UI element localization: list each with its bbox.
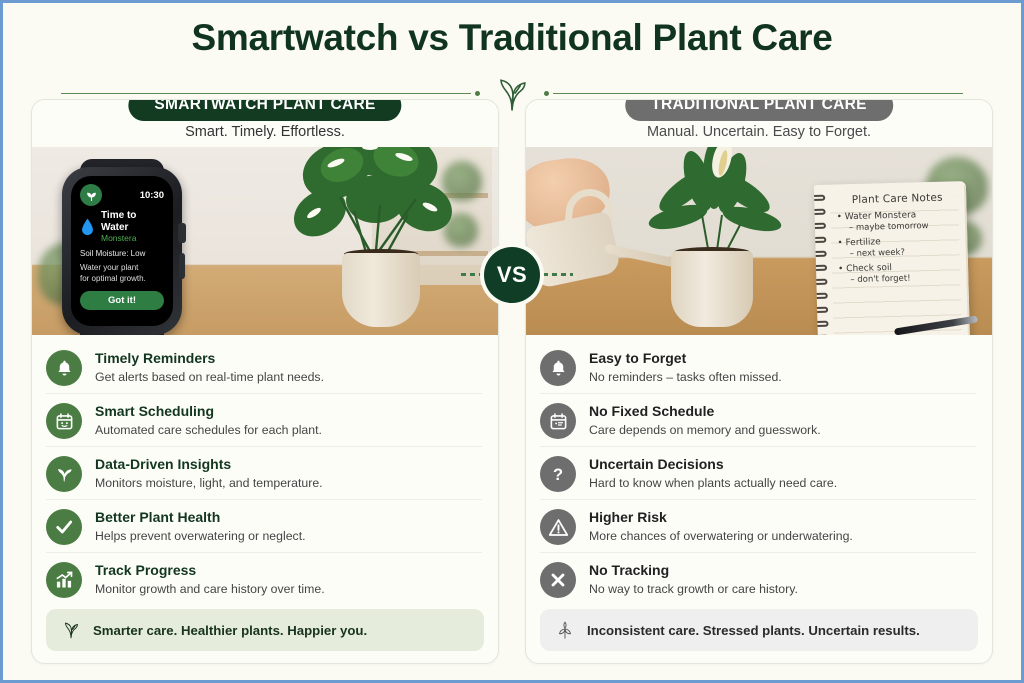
feature-title: Smart Scheduling [95,403,322,421]
calendar-glyph [549,412,568,431]
traditional-badge: TRADITIONAL PLANT CARE [625,99,893,121]
question-glyph: ? [547,463,569,485]
smartwatch-badge: SMARTWATCH PLANT CARE [128,99,401,121]
infographic-viewport: Smartwatch vs Traditional Plant Care VS … [0,0,1024,683]
feature-desc: Monitors moisture, light, and temperatur… [95,476,323,492]
feature-desc: Monitor growth and care history over tim… [95,582,325,598]
smartwatch-panel: SMARTWATCH PLANT CARE Smart. Timely. Eff… [31,99,499,664]
feature-text: Timely Reminders Get alerts based on rea… [95,349,324,385]
chart-up-glyph [54,570,74,590]
notebook-item-sub: – maybe tomorrow [849,220,959,233]
leaf-sprout-icon [60,619,82,641]
watch-status-row: 10:30 [80,184,164,206]
check-icon [46,509,82,545]
divider-dot-right [544,91,549,96]
feature-text: Higher Risk More chances of overwatering… [589,508,853,544]
feature-title: No Fixed Schedule [589,403,821,421]
feature-title: Better Plant Health [95,509,306,527]
watch-body-line-2: for optimal growth. [80,274,164,284]
watch-crown[interactable] [178,223,186,243]
watch-app-leaf-icon [80,184,102,206]
x-icon [540,562,576,598]
svg-text:?: ? [553,466,563,484]
feature-row: Higher Risk More chances of overwatering… [540,499,976,552]
feature-desc: Hard to know when plants actually need c… [589,476,837,492]
plant-pot-left [342,253,420,327]
traditional-photo: Plant Care Notes • Water Monstera – mayb… [526,147,992,335]
vs-badge: VS [484,247,540,303]
leaf-icon [46,456,82,492]
feature-row: Better Plant Health Helps prevent overwa… [46,499,482,552]
feature-text: No Fixed Schedule Care depends on memory… [589,402,821,438]
watch-screen[interactable]: 10:30 Time to Water Monstera Soil Moistu [71,176,173,326]
leaf-glyph [54,464,74,484]
watch-got-it-button[interactable]: Got it! [80,291,164,310]
smartwatch-feature-list: Timely Reminders Get alerts based on rea… [32,335,498,605]
feature-row: Easy to Forget No reminders – tasks ofte… [540,341,976,393]
question-icon: ? [540,456,576,492]
chart-up-icon [46,562,82,598]
calendar-glyph [55,412,74,431]
watch-notification-text: Time to Water Monstera [101,210,164,243]
feature-text: No Tracking No way to track growth or ca… [589,561,798,597]
traditional-panel: TRADITIONAL PLANT CARE Manual. Uncertain… [525,99,993,664]
watch-plant-name: Monstera [101,233,164,243]
feature-row: Timely Reminders Get alerts based on rea… [46,341,482,393]
feature-desc: More chances of overwatering or underwat… [589,529,853,545]
notebook-title: Plant Care Notes [836,191,958,206]
feature-title: Timely Reminders [95,350,324,368]
comparison-columns: SMARTWATCH PLANT CARE Smart. Timely. Eff… [31,99,993,664]
bell-glyph [55,359,74,378]
warning-icon [540,509,576,545]
feature-row: Track Progress Monitor growth and care h… [46,552,482,605]
watch-moisture-status: Soil Moisture: Low [80,249,164,258]
feature-text: Data-Driven Insights Monitors moisture, … [95,455,323,491]
feature-desc: No reminders – tasks often missed. [589,370,782,386]
feature-title: Data-Driven Insights [95,456,323,474]
smartwatch-photo: 10:30 Time to Water Monstera Soil Moistu [32,147,498,335]
watch-body-line-1: Water your plant [80,263,164,273]
feature-title: No Tracking [589,562,798,580]
divider-line-left [61,93,471,94]
traditional-footer-text: Inconsistent care. Stressed plants. Unce… [587,623,920,638]
feature-text: Smart Scheduling Automated care schedule… [95,402,322,438]
notebook-content: Plant Care Notes • Water Monstera – mayb… [836,191,960,285]
watch-notification-row: Time to Water Monstera [80,210,164,243]
warning-glyph [548,517,569,538]
feature-desc: Care depends on memory and guesswork. [589,423,821,439]
feature-title: Easy to Forget [589,350,782,368]
water-drop-icon [80,218,95,236]
feature-row: Data-Driven Insights Monitors moisture, … [46,446,482,499]
feature-row: No Tracking No way to track growth or ca… [540,552,976,605]
feature-row: Smart Scheduling Automated care schedule… [46,393,482,446]
notebook: Plant Care Notes • Water Monstera – mayb… [814,181,970,335]
feature-text: Better Plant Health Helps prevent overwa… [95,508,306,544]
leaf-glyph [85,189,98,202]
feature-desc: Automated care schedules for each plant. [95,423,322,439]
vs-dashes-right [543,273,573,276]
feature-desc: Helps prevent overwatering or neglect. [95,529,306,545]
feature-desc: No way to track growth or care history. [589,582,798,598]
sprout-icon [554,619,576,641]
calendar-icon [540,403,576,439]
bell-glyph [549,359,568,378]
smartwatch-footer: Smarter care. Healthier plants. Happier … [46,609,484,651]
calendar-icon [46,403,82,439]
check-glyph [54,517,74,537]
plant-pot-right [671,251,753,327]
x-glyph [548,570,568,590]
notebook-spiral-binding [814,193,830,335]
traditional-footer: Inconsistent care. Stressed plants. Unce… [540,609,978,651]
bell-icon [540,350,576,386]
feature-title: Track Progress [95,562,325,580]
feature-text: Easy to Forget No reminders – tasks ofte… [589,349,782,385]
traditional-feature-list: Easy to Forget No reminders – tasks ofte… [526,335,992,605]
feature-desc: Get alerts based on real-time plant need… [95,370,324,386]
watch-notif-title: Time to Water [101,210,164,233]
divider-line-right [553,93,963,94]
smartwatch-footer-text: Smarter care. Healthier plants. Happier … [93,623,367,638]
bell-icon [46,350,82,386]
feature-row: No Fixed Schedule Care depends on memory… [540,393,976,446]
notebook-item-sub: – next week? [850,246,960,259]
feature-text: Uncertain Decisions Hard to know when pl… [589,455,837,491]
smartwatch-device: 10:30 Time to Water Monstera Soil Moistu [62,167,182,335]
feature-text: Track Progress Monitor growth and care h… [95,561,325,597]
feature-title: Uncertain Decisions [589,456,837,474]
watch-side-button[interactable] [179,253,185,279]
feature-title: Higher Risk [589,509,853,527]
divider-dot-left [475,91,480,96]
feature-row: ? Uncertain Decisions Hard to know when … [540,446,976,499]
watch-time: 10:30 [140,190,164,201]
page-title: Smartwatch vs Traditional Plant Care [3,17,1021,60]
